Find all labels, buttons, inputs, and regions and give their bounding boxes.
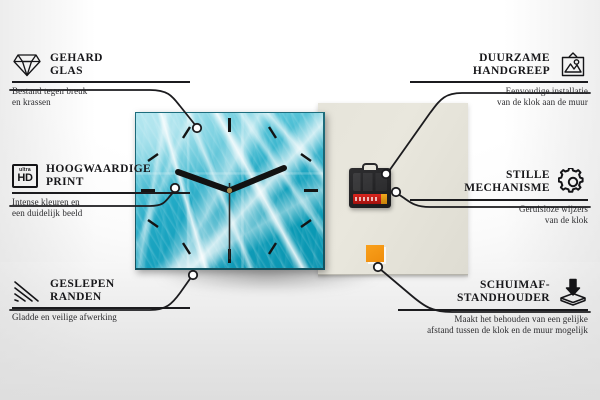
infographic-canvas: GEHARD GLAS Bestand tegen breuk en krass… xyxy=(0,0,600,400)
ultra-hd-icon: ultra HD xyxy=(12,164,38,188)
feature-duurzame-handgreep: DUURZAME HANDGREEP Eenvoudige installati… xyxy=(410,52,588,108)
framed-picture-icon xyxy=(558,52,588,78)
feature-divider xyxy=(12,81,190,83)
connector-dot-schuimaf-standhouder xyxy=(374,263,382,271)
feature-divider xyxy=(12,307,190,309)
feature-hoogwaardige-print: ultra HD HOOGWAARDIGE PRINT Intense kleu… xyxy=(12,163,190,219)
feature-divider xyxy=(410,81,588,83)
feature-title: HOOGWAARDIGE PRINT xyxy=(46,163,151,189)
gear-icon xyxy=(558,168,588,196)
feature-title: DUURZAME HANDGREEP xyxy=(473,52,550,78)
feature-description: Eenvoudige installatie van de klok aan d… xyxy=(410,86,588,108)
feature-header: STILLE MECHANISME xyxy=(410,168,588,196)
feature-description: Geruisloze wijzers van de klok xyxy=(410,204,588,226)
feature-description: Intense kleuren en een duidelijk beeld xyxy=(12,197,190,219)
press-down-pad-icon xyxy=(558,278,588,306)
feature-header: GESLEPEN RANDEN xyxy=(12,278,190,304)
beveled-edge-icon xyxy=(12,278,42,304)
feature-header: DUURZAME HANDGREEP xyxy=(410,52,588,78)
feature-stille-mechanisme: STILLE MECHANISME Geruisloze wijzers van… xyxy=(410,168,588,226)
feature-header: GEHARD GLAS xyxy=(12,52,190,78)
connector-dot-geslepen-randen xyxy=(189,271,197,279)
feature-gehard-glas: GEHARD GLAS Bestand tegen breuk en krass… xyxy=(12,52,190,108)
connector-dot-stille-mechanisme xyxy=(392,188,400,196)
connector-dot-duurzame-handgreep xyxy=(382,170,390,178)
feature-divider xyxy=(12,192,190,194)
connector-dot-gehard-glas xyxy=(193,124,201,132)
feature-description: Maakt het behouden van een gelijke afsta… xyxy=(398,314,588,336)
feature-divider xyxy=(410,199,588,201)
feature-title: SCHUIMAF- STANDHOUDER xyxy=(457,279,550,305)
feature-header: SCHUIMAF- STANDHOUDER xyxy=(398,278,588,306)
feature-description: Gladde en veilige afwerking xyxy=(12,312,190,323)
feature-title: GESLEPEN RANDEN xyxy=(50,278,115,304)
feature-title: GEHARD GLAS xyxy=(50,52,103,78)
feature-divider xyxy=(398,309,588,311)
diamond-icon xyxy=(12,52,42,78)
feature-schuimaf-standhouder: SCHUIMAF- STANDHOUDER Maakt het behouden… xyxy=(398,278,588,336)
feature-geslepen-randen: GESLEPEN RANDEN Gladde en veilige afwerk… xyxy=(12,278,190,323)
feature-header: ultra HD HOOGWAARDIGE PRINT xyxy=(12,163,190,189)
feature-title: STILLE MECHANISME xyxy=(464,169,550,195)
feature-description: Bestand tegen breuk en krassen xyxy=(12,86,190,108)
